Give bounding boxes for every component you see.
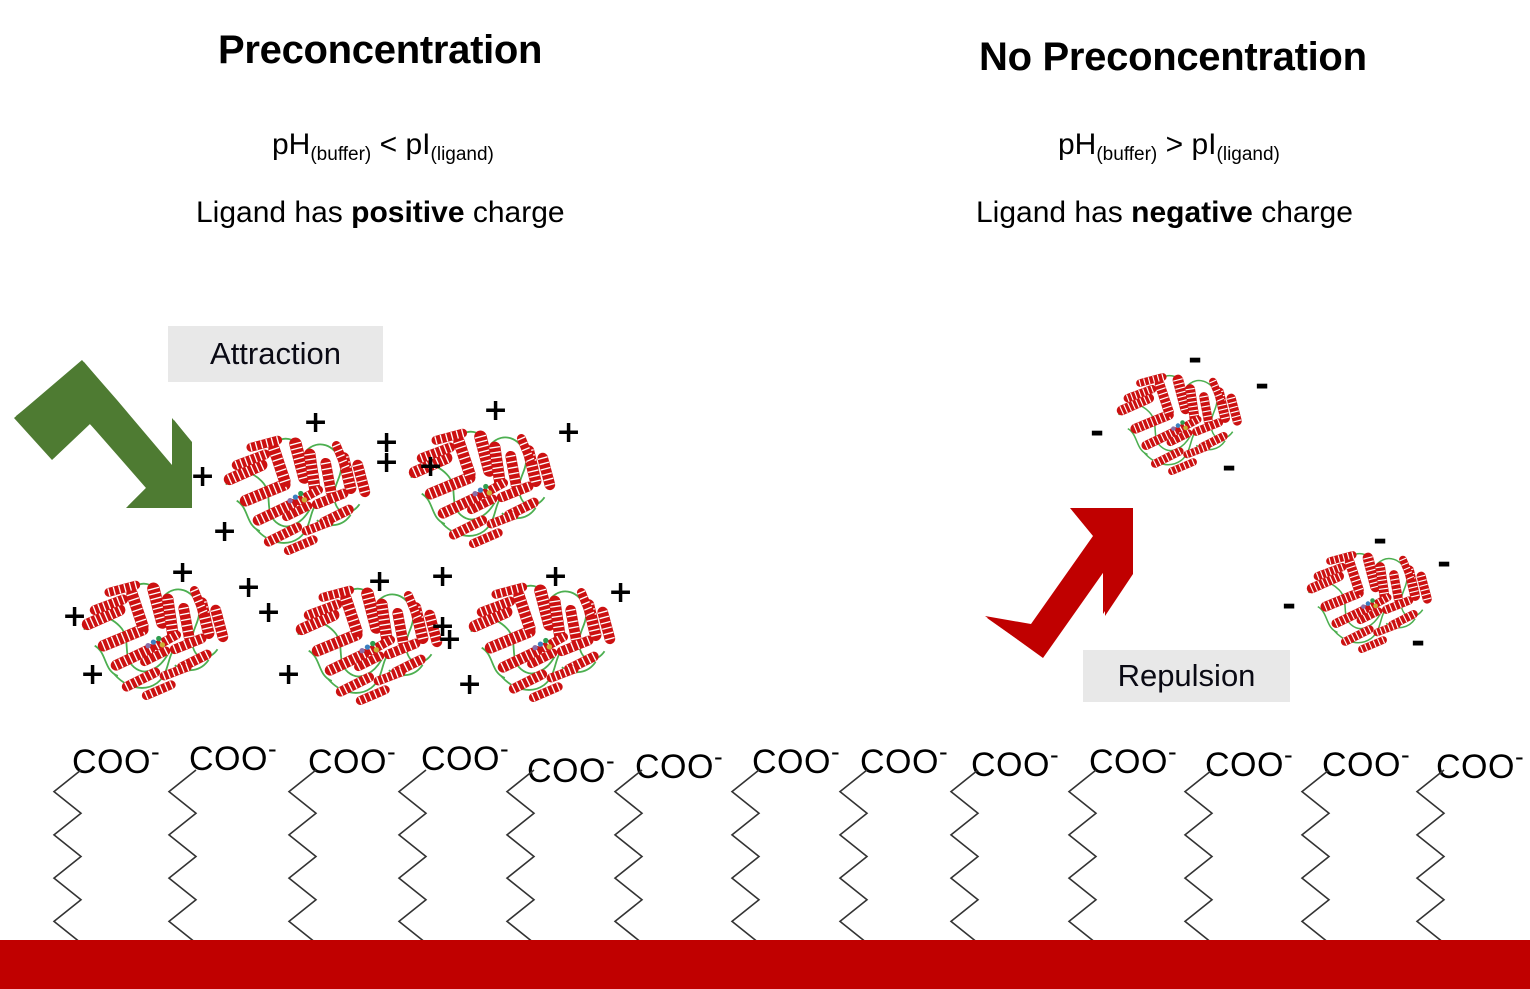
dextran-chain bbox=[507, 770, 534, 943]
dextran-chain-layer bbox=[0, 0, 1530, 989]
dextran-chain bbox=[615, 770, 642, 943]
dextran-chain bbox=[1302, 770, 1329, 943]
sensor-chip-surface bbox=[0, 940, 1530, 989]
dextran-chain bbox=[399, 770, 426, 943]
dextran-chain bbox=[289, 770, 316, 943]
dextran-chain bbox=[840, 770, 867, 943]
dextran-chain bbox=[54, 770, 81, 943]
dextran-chain bbox=[1417, 770, 1444, 943]
diagram-canvas: Preconcentration pH(buffer) < pI(ligand)… bbox=[0, 0, 1530, 989]
dextran-chain bbox=[951, 770, 978, 943]
dextran-chain bbox=[732, 770, 759, 943]
dextran-chain bbox=[1069, 770, 1096, 943]
dextran-chain bbox=[1185, 770, 1212, 943]
dextran-chain bbox=[169, 770, 196, 943]
